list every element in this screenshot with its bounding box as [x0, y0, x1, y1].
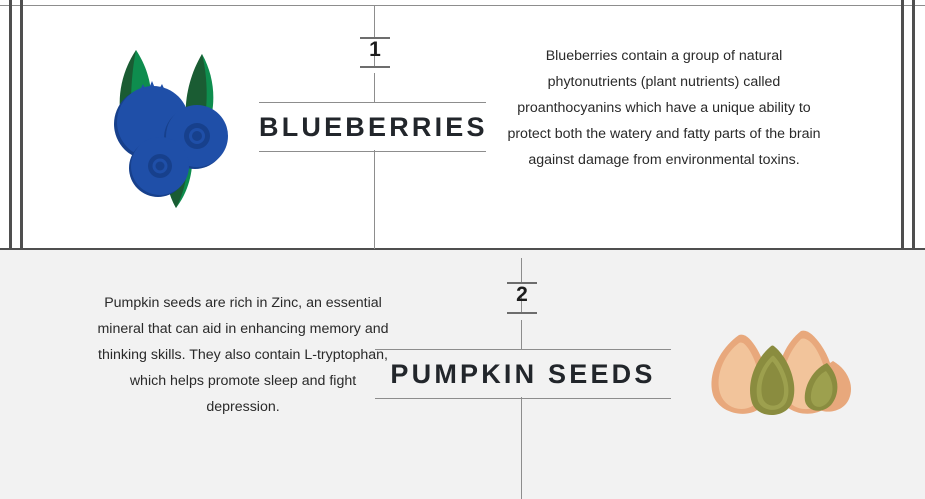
section-one-spine-top	[374, 5, 375, 38]
section-two-spine-bottom	[521, 397, 522, 499]
section-two-spine-number-lower	[521, 320, 522, 350]
section-one-spine-bottom	[374, 150, 375, 249]
section-two-title-block: PUMPKIN SEEDS	[375, 349, 671, 399]
section-one-title-block: BLUEBERRIES	[259, 102, 486, 152]
left-edge-bar-outer	[9, 0, 12, 249]
blueberries-icon	[98, 40, 238, 215]
section-one-tick-bottom	[360, 66, 390, 68]
section-two-body-text: Pumpkin seeds are rich in Zinc, an essen…	[96, 290, 390, 420]
section-one-step-number: 1	[355, 36, 395, 64]
section-one-title-rule-bottom	[259, 151, 486, 152]
section-two-title-rule-bottom	[375, 398, 671, 399]
right-edge-bar-inner	[901, 0, 904, 249]
section-two-spine-top	[521, 258, 522, 283]
section-two-title: PUMPKIN SEEDS	[375, 350, 671, 398]
section-one-spine-number-lower	[374, 73, 375, 103]
section-one-title: BLUEBERRIES	[259, 103, 486, 151]
top-rule	[0, 5, 925, 6]
infographic-page: 1 BLUEBERRIES Blueberries contain a grou…	[0, 0, 925, 499]
section-divider	[0, 248, 925, 250]
right-edge-bar-outer	[912, 0, 915, 249]
left-edge-bar-inner	[20, 0, 23, 249]
section-two-step-number: 2	[502, 281, 542, 309]
pumpkin-seeds-icon	[697, 327, 857, 419]
section-one-body-text: Blueberries contain a group of natural p…	[503, 43, 825, 173]
section-two-tick-bottom	[507, 312, 537, 314]
